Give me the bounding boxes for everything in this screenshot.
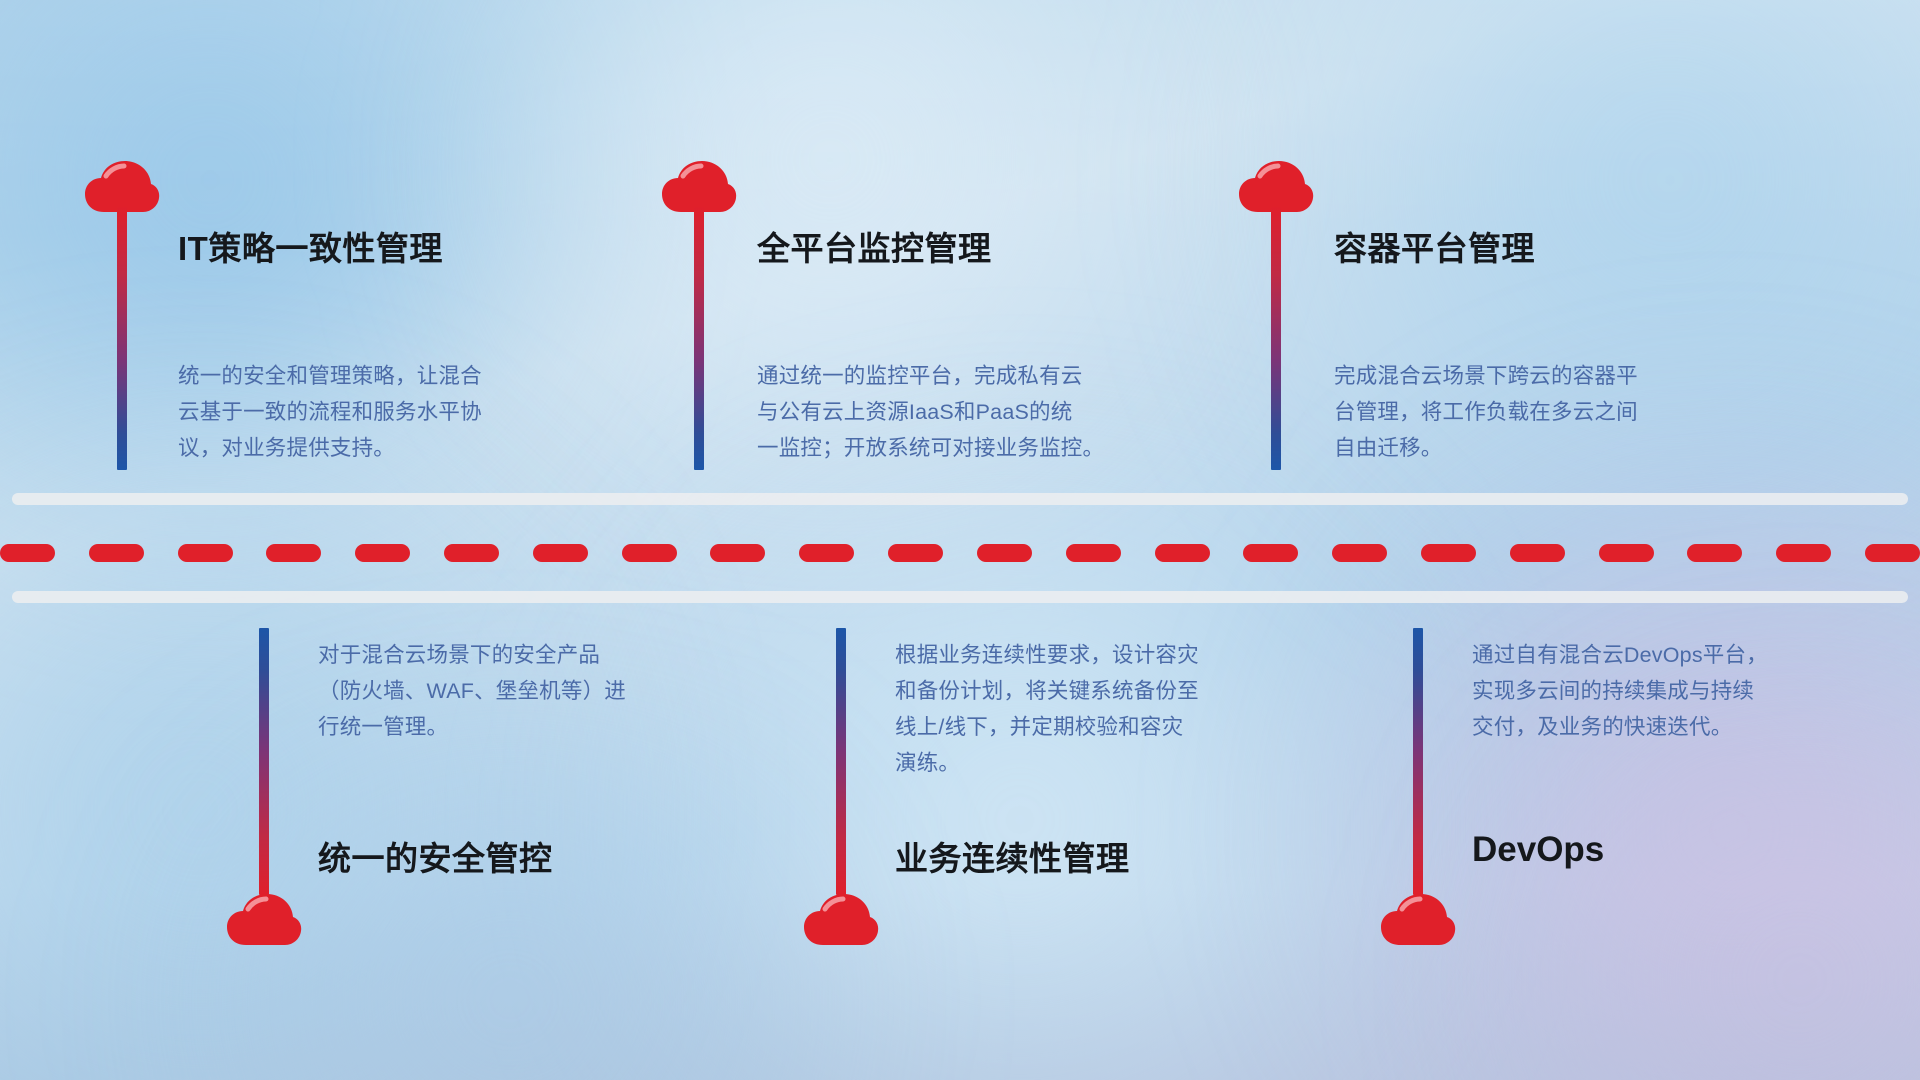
item-heading: IT策略一致性管理 [178, 222, 443, 270]
dash-segment [977, 544, 1032, 562]
connector-stem [259, 628, 269, 895]
item-heading: 业务连续性管理 [895, 832, 1130, 880]
dash-segment [710, 544, 765, 562]
dash-segment [266, 544, 321, 562]
dash-segment [1599, 544, 1654, 562]
dash-segment [622, 544, 677, 562]
cloud-icon [226, 893, 302, 947]
dash-segment [1155, 544, 1210, 562]
cloud-icon [1380, 893, 1456, 947]
infographic-canvas: IT策略一致性管理 统一的安全和管理策略，让混合 云基于一致的流程和服务水平协 … [0, 0, 1920, 1080]
connector-stem [1271, 207, 1281, 470]
item-body: 根据业务连续性要求，设计容灾 和备份计划，将关键系统备份至 线上/线下，并定期校… [895, 637, 1325, 781]
item-body: 统一的安全和管理策略，让混合 云基于一致的流程和服务水平协 议，对业务提供支持。 [178, 358, 608, 466]
item-heading: 统一的安全管控 [318, 832, 553, 880]
dash-segment [1421, 544, 1476, 562]
item-heading: DevOps [1472, 830, 1604, 870]
connector-stem [836, 628, 846, 895]
cloud-icon [661, 160, 737, 214]
dash-segment [1332, 544, 1387, 562]
divider-rule-bottom [12, 591, 1908, 603]
connector-stem [694, 207, 704, 470]
dash-segment [799, 544, 854, 562]
dash-segment [1066, 544, 1121, 562]
dash-segment [178, 544, 233, 562]
cloud-icon [803, 893, 879, 947]
dash-segment [533, 544, 588, 562]
item-body: 通过统一的监控平台，完成私有云 与公有云上资源IaaS和PaaS的统 一监控；开… [757, 358, 1187, 466]
cloud-icon [84, 160, 160, 214]
dash-segment [355, 544, 410, 562]
dash-segment [1687, 544, 1742, 562]
dash-segment [444, 544, 499, 562]
connector-stem [1413, 628, 1423, 895]
item-body: 通过自有混合云DevOps平台， 实现多云间的持续集成与持续 交付，及业务的快速… [1472, 637, 1902, 745]
dash-segment [0, 544, 55, 562]
dash-segment [888, 544, 943, 562]
dash-segment [1510, 544, 1565, 562]
dash-segment [1243, 544, 1298, 562]
item-heading: 全平台监控管理 [757, 222, 992, 270]
cloud-icon [1238, 160, 1314, 214]
item-body: 完成混合云场景下跨云的容器平 台管理，将工作负载在多云之间 自由迁移。 [1334, 358, 1764, 466]
dash-segment [89, 544, 144, 562]
item-body: 对于混合云场景下的安全产品 （防火墙、WAF、堡垒机等）进 行统一管理。 [318, 637, 748, 745]
dash-segment [1865, 544, 1920, 562]
dash-segment [1776, 544, 1831, 562]
item-heading: 容器平台管理 [1334, 222, 1535, 270]
divider-rule-top [12, 493, 1908, 505]
dashed-separator [0, 544, 1920, 562]
connector-stem [117, 207, 127, 470]
